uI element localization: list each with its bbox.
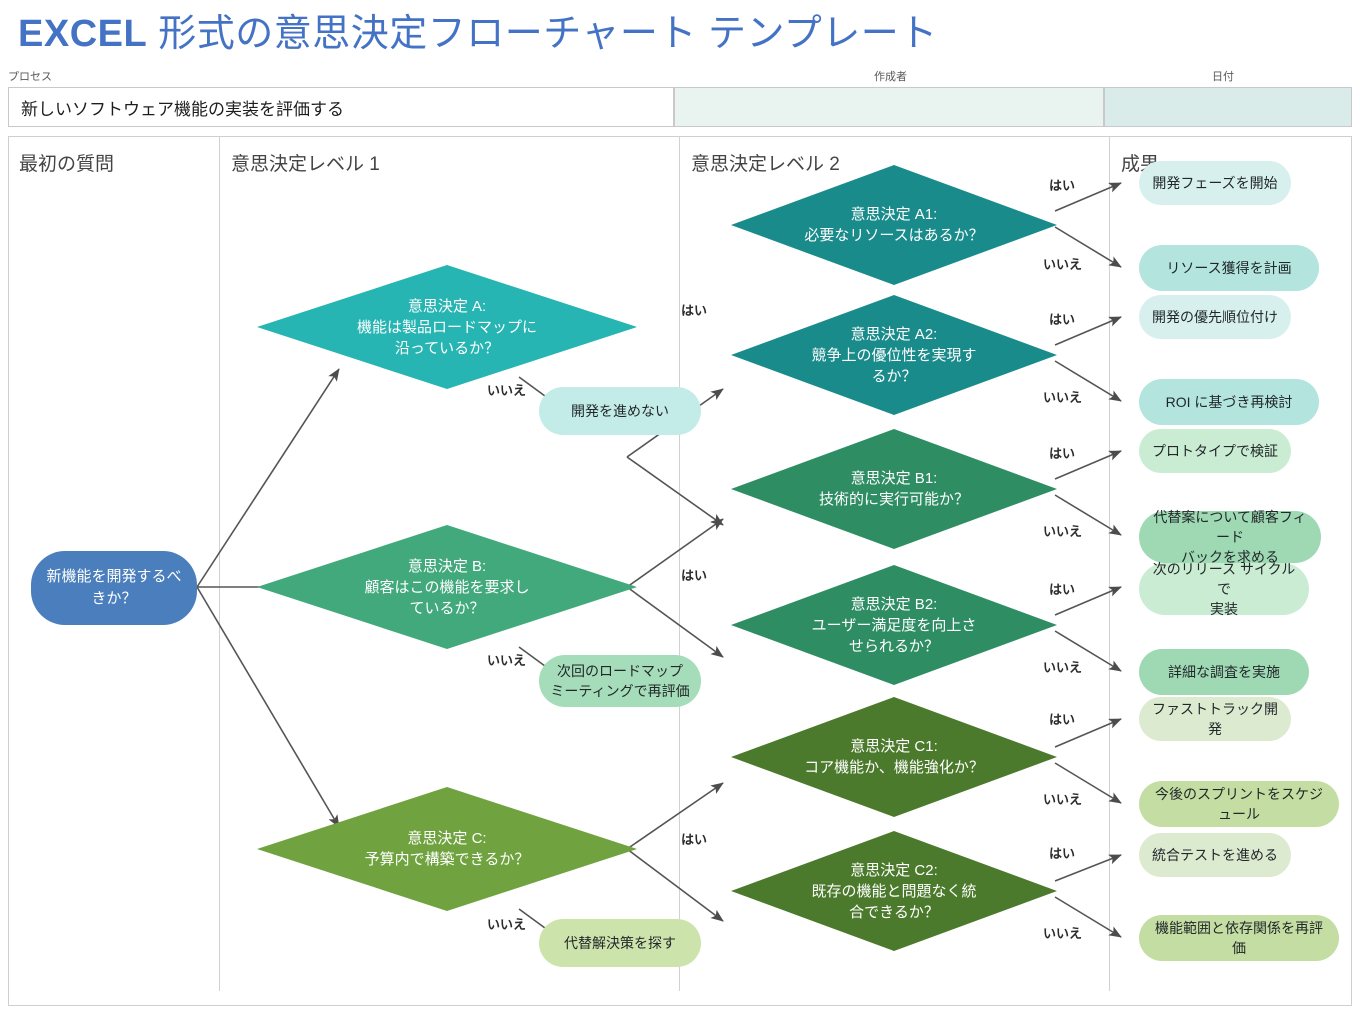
branch-label-a2-no: いいえ	[1043, 387, 1082, 406]
decision-node-c1[interactable]: 意思決定 C1:コア機能か、機能強化か？	[731, 697, 1057, 817]
outcome-b1-no-label: 代替案について顧客フィードバックを求める	[1149, 507, 1311, 567]
decision-node-b-label: 意思決定 B:顧客はこの機能を要求しているか？	[329, 556, 565, 619]
outcome-b2-no-label: 詳細な調査を実施	[1168, 662, 1280, 682]
date-field[interactable]	[1104, 87, 1352, 127]
branch-label-a1-no: いいえ	[1043, 254, 1082, 273]
branch-label-b2-no: いいえ	[1043, 657, 1082, 676]
decision-node-b2-label: 意思決定 B2:ユーザー満足度を向上させられるか？	[793, 594, 995, 657]
branch-label-b1-yes: はい	[1049, 443, 1075, 462]
branch-label-b1-no: いいえ	[1043, 521, 1082, 540]
page-title-strong: EXCEL	[18, 13, 147, 55]
outcome-a1-no[interactable]: リソース獲得を計画	[1139, 245, 1319, 291]
outcome-b1-yes-label: プロトタイプで検証	[1152, 441, 1278, 461]
page-title: EXCEL 形式の意思決定フローチャート テンプレート	[18, 8, 938, 60]
process-field[interactable]: 新しいソフトウェア機能の実装を評価する	[8, 87, 674, 127]
outcome-a1-no-label: リソース獲得を計画	[1166, 258, 1291, 278]
decision-node-b1[interactable]: 意思決定 B1:技術的に実行可能か？	[731, 429, 1057, 549]
outcome-b-no-label: 次回のロードマップミーティングで再評価	[550, 661, 689, 701]
column-title-level-1: 意思決定レベル 1	[231, 149, 380, 176]
branch-label-c-yes: はい	[681, 829, 707, 848]
outcome-a1-yes[interactable]: 開発フェーズを開始	[1139, 161, 1291, 205]
outcome-a2-yes-label: 開発の優先順位付け	[1152, 307, 1278, 327]
branch-label-c-no: いいえ	[487, 914, 526, 933]
branch-label-a-yes: はい	[681, 300, 707, 319]
column-divider-2	[679, 137, 680, 991]
outcome-c1-yes-label: ファストトラック開発	[1149, 699, 1281, 739]
author-field-label: 作成者	[874, 70, 907, 84]
decision-node-c[interactable]: 意思決定 C:予算内で構築できるか？	[257, 787, 637, 911]
author-field[interactable]	[674, 87, 1104, 127]
decision-node-a1[interactable]: 意思決定 A1:必要なリソースはあるか？	[731, 165, 1057, 285]
decision-node-a-label: 意思決定 A:機能は製品ロードマップに沿っているか？	[329, 296, 565, 359]
branch-label-c2-no: いいえ	[1043, 923, 1082, 942]
decision-node-c-label: 意思決定 C:予算内で構築できるか？	[329, 828, 565, 870]
outcome-b2-yes-label: 次のリリース サイクルで実装	[1149, 559, 1299, 619]
column-title-initial-question: 最初の質問	[19, 149, 114, 176]
decision-node-c2[interactable]: 意思決定 C2:既存の機能と問題なく統合できるか？	[731, 831, 1057, 951]
branch-label-c2-yes: はい	[1049, 843, 1075, 862]
outcome-a2-no[interactable]: ROI に基づき再検討	[1139, 379, 1319, 425]
outcome-c1-yes[interactable]: ファストトラック開発	[1139, 697, 1291, 741]
outcome-b2-no[interactable]: 詳細な調査を実施	[1139, 649, 1309, 695]
column-title-level-2: 意思決定レベル 2	[691, 149, 840, 176]
decision-node-c2-label: 意思決定 C2:既存の機能と問題なく統合できるか？	[793, 860, 995, 923]
flowchart-page: EXCEL 形式の意思決定フローチャート テンプレート プロセス 作成者 日付 …	[0, 0, 1360, 1016]
outcome-c1-no-label: 今後のスプリントをスケジュール	[1149, 784, 1329, 824]
decision-node-b1-label: 意思決定 B1:技術的に実行可能か？	[793, 468, 995, 510]
outcome-c2-no-label: 機能範囲と依存関係を再評価	[1149, 918, 1329, 958]
outcome-a-no[interactable]: 開発を進めない	[539, 387, 701, 435]
outcome-c-no-label: 代替解決策を探す	[564, 933, 676, 953]
branch-label-b-yes: はい	[681, 565, 707, 584]
decision-node-b[interactable]: 意思決定 B:顧客はこの機能を要求しているか？	[257, 525, 637, 649]
outcome-a1-yes-label: 開発フェーズを開始	[1152, 173, 1277, 193]
decision-node-a[interactable]: 意思決定 A:機能は製品ロードマップに沿っているか？	[257, 265, 637, 389]
branch-label-b-no: いいえ	[487, 650, 526, 669]
branch-label-a1-yes: はい	[1049, 175, 1075, 194]
decision-node-c1-label: 意思決定 C1:コア機能か、機能強化か？	[793, 736, 995, 778]
decision-node-b2[interactable]: 意思決定 B2:ユーザー満足度を向上させられるか？	[731, 565, 1057, 685]
start-node[interactable]: 新機能を開発するべきか？	[31, 551, 197, 625]
outcome-b-no[interactable]: 次回のロードマップミーティングで再評価	[539, 655, 701, 707]
outcome-b1-no[interactable]: 代替案について顧客フィードバックを求める	[1139, 511, 1321, 563]
outcome-c2-yes-label: 統合テストを進める	[1152, 845, 1278, 865]
outcome-a2-yes[interactable]: 開発の優先順位付け	[1139, 295, 1291, 339]
decision-node-a2-label: 意思決定 A2:競争上の優位性を実現するか？	[793, 324, 995, 387]
outcome-c1-no[interactable]: 今後のスプリントをスケジュール	[1139, 781, 1339, 827]
decision-node-a2[interactable]: 意思決定 A2:競争上の優位性を実現するか？	[731, 295, 1057, 415]
column-divider-3	[1109, 137, 1110, 991]
outcome-c2-no[interactable]: 機能範囲と依存関係を再評価	[1139, 915, 1339, 961]
date-field-label: 日付	[1212, 70, 1234, 84]
branch-label-b2-yes: はい	[1049, 579, 1075, 598]
branch-label-c1-yes: はい	[1049, 709, 1075, 728]
outcome-c2-yes[interactable]: 統合テストを進める	[1139, 833, 1291, 877]
outcome-a-no-label: 開発を進めない	[571, 401, 669, 421]
outcome-b2-yes[interactable]: 次のリリース サイクルで実装	[1139, 563, 1309, 615]
branch-label-a2-yes: はい	[1049, 309, 1075, 328]
column-divider-1	[219, 137, 220, 991]
start-node-label: 新機能を開発するべきか？	[43, 566, 185, 610]
page-title-rest: 形式の意思決定フローチャート テンプレート	[147, 13, 938, 55]
branch-label-a-no: いいえ	[487, 380, 526, 399]
flowchart-canvas: 最初の質問 意思決定レベル 1 意思決定レベル 2 成果	[8, 136, 1352, 1006]
outcome-b1-yes[interactable]: プロトタイプで検証	[1139, 429, 1291, 473]
outcome-c-no[interactable]: 代替解決策を探す	[539, 919, 701, 967]
outcome-a2-no-label: ROI に基づき再検討	[1166, 392, 1293, 412]
decision-node-a1-label: 意思決定 A1:必要なリソースはあるか？	[793, 204, 995, 246]
process-field-label: プロセス	[8, 70, 52, 84]
branch-label-c1-no: いいえ	[1043, 789, 1082, 808]
